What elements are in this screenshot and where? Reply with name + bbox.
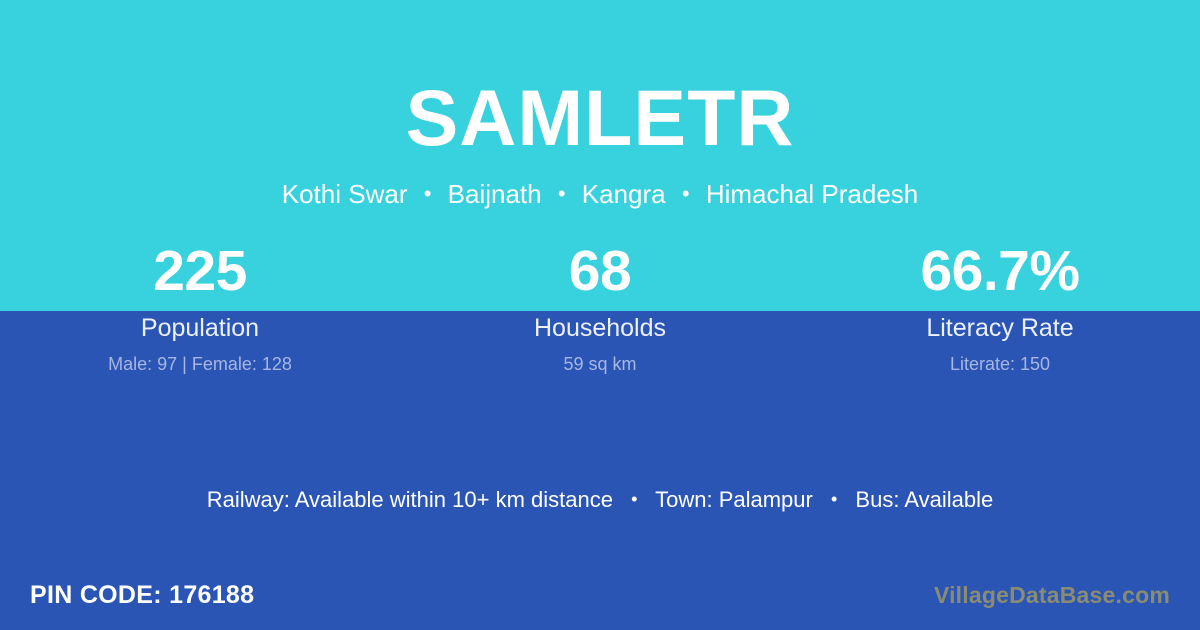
breadcrumb-item-block: Baijnath [448,179,542,209]
breadcrumb-item-village: Kothi Swar [282,179,408,209]
stat-sublabel: Male: 97 | Female: 128 [0,354,400,375]
pin-code: PIN CODE: 176188 [30,583,254,608]
stats-row: 225 Population Male: 97 | Female: 128 68… [0,238,1200,374]
amenity-town: Town: Palampur [655,487,813,512]
breadcrumb-separator: • [549,181,575,207]
stat-label: Households [400,314,800,343]
brand-watermark: VillageDataBase.com [934,584,1170,607]
stat-label: Literacy Rate [800,314,1200,343]
breadcrumb-item-state: Himachal Pradesh [706,179,918,209]
stat-sublabel: Literate: 150 [800,354,1200,375]
stat-label: Population [0,314,400,343]
stat-value: 68 [400,238,800,300]
card-header: SAMLETR Kothi Swar • Baijnath • Kangra •… [0,0,1200,210]
village-info-card: SAMLETR Kothi Swar • Baijnath • Kangra •… [0,0,1200,630]
amenities-line: Railway: Available within 10+ km distanc… [0,486,1200,515]
stat-literacy-rate: 66.7% Literacy Rate Literate: 150 [800,238,1200,374]
stat-population: 225 Population Male: 97 | Female: 128 [0,238,400,374]
breadcrumb-separator: • [673,181,699,207]
amenity-railway: Railway: Available within 10+ km distanc… [207,487,613,512]
stat-value: 66.7% [800,238,1200,300]
stat-households: 68 Households 59 sq km [400,238,800,374]
stat-sublabel: 59 sq km [400,354,800,375]
amenity-separator: • [619,488,649,511]
amenity-separator: • [819,488,849,511]
card-footer: PIN CODE: 176188 VillageDataBase.com [0,560,1200,630]
breadcrumb-separator: • [415,181,441,207]
breadcrumb: Kothi Swar • Baijnath • Kangra • Himacha… [0,179,1200,210]
stat-value: 225 [0,238,400,300]
page-title: SAMLETR [0,78,1200,157]
breadcrumb-item-district: Kangra [582,179,666,209]
amenity-bus: Bus: Available [855,487,993,512]
